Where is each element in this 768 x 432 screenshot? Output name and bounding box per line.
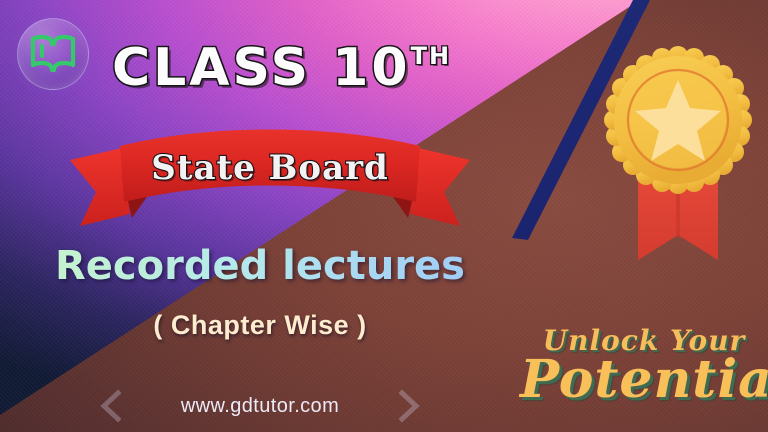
class-title: CLASS 10 TH bbox=[112, 42, 451, 94]
class-title-superscript: TH bbox=[411, 44, 451, 68]
chevron-left-icon bbox=[95, 389, 129, 423]
class-title-main: CLASS 10 bbox=[112, 42, 411, 94]
open-book-logo-icon bbox=[30, 34, 76, 74]
state-board-ribbon: State Board bbox=[70, 126, 470, 226]
promo-banner: CLASS 10 TH bbox=[0, 0, 768, 432]
website-footer: www.gdtutor.com bbox=[0, 389, 520, 423]
state-board-ribbon-label: State Board bbox=[70, 148, 470, 188]
website-url[interactable]: www.gdtutor.com bbox=[181, 395, 339, 418]
headline-recorded-lectures: Recorded lectures bbox=[0, 243, 520, 289]
chevron-right-icon bbox=[391, 389, 425, 423]
award-badge bbox=[596, 42, 760, 272]
subheadline-chapter-wise: ( Chapter Wise ) bbox=[0, 310, 520, 341]
slogan-line-2: Potential bbox=[520, 353, 768, 408]
brand-logo[interactable] bbox=[17, 18, 89, 90]
slogan: Unlock Your Potential bbox=[520, 326, 768, 408]
